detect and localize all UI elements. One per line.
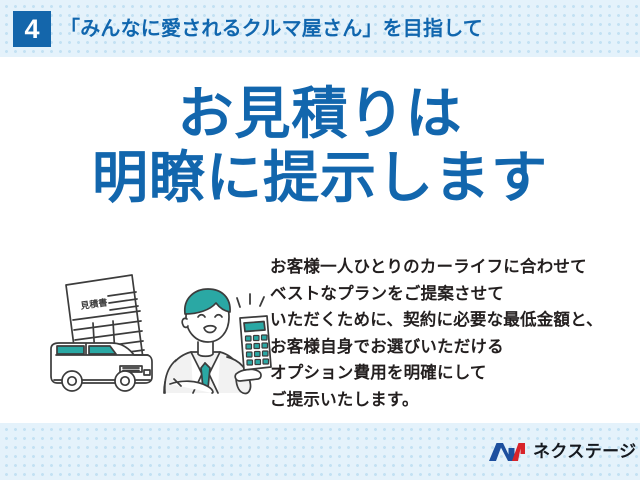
body-copy-line-4: お客様自身でお選びいただける	[270, 334, 630, 361]
body-copy-line-3: いただくために、契約に必要な最低金額と、	[270, 307, 630, 334]
headline-line-1: お見積りは	[0, 82, 640, 146]
body-copy-line-1: お客様一人ひとりのカーライフに合わせて	[270, 254, 630, 281]
body-copy: お客様一人ひとりのカーライフに合わせて ベストなプランをご提案させて いただくた…	[270, 254, 630, 413]
hair	[185, 289, 230, 314]
body-copy-line-5: オプション費用を明確にして	[270, 360, 630, 387]
salesperson-illustration: 見積書	[24, 262, 276, 420]
headline: お見積りは 明瞭に提示します	[0, 82, 640, 210]
nextage-logo-text: ネクステージ	[533, 440, 637, 464]
step-number-badge: 4	[13, 11, 51, 47]
header-title: 「みんなに愛されるクルマ屋さん」を目指して	[60, 13, 620, 45]
body-copy-line-2: ベストなプランをご提案させて	[270, 281, 630, 308]
calculator	[240, 316, 271, 370]
nextage-n-mark	[487, 440, 527, 464]
nextage-logo: ネクステージ	[487, 440, 637, 464]
headline-line-2: 明瞭に提示します	[0, 146, 640, 210]
promo-banner: 4 「みんなに愛されるクルマ屋さん」を目指して お見積りは 明瞭に提示します お…	[0, 0, 640, 480]
sparkle-marks	[237, 294, 264, 307]
body-copy-line-6: ご提示いたします。	[270, 387, 630, 414]
